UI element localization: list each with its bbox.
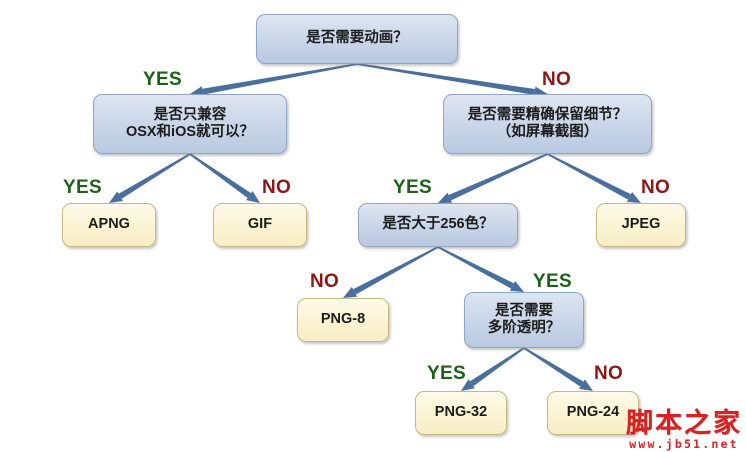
arrow-q-detail-to-r-jpeg xyxy=(547,153,641,203)
node-r-gif[interactable]: GIF xyxy=(213,203,307,247)
arrow-q-osx-ios-to-r-apng xyxy=(109,153,190,203)
edge-label-q-256-yes: YES xyxy=(533,272,572,291)
arrow-q-animation-to-q-osx-ios xyxy=(190,63,357,97)
edge-label-q-osx-ios-yes: YES xyxy=(63,178,102,197)
watermark-url: www.jb51.net xyxy=(626,439,742,451)
edge-label-q-osx-ios-no: NO xyxy=(262,178,291,197)
node-r-png32[interactable]: PNG-32 xyxy=(415,391,507,435)
edge-label-q-alpha-yes: YES xyxy=(427,364,466,383)
node-q-osx-ios[interactable]: 是否只兼容 OSX和iOS就可以？ xyxy=(93,94,287,154)
node-r-png8[interactable]: PNG-8 xyxy=(297,298,389,342)
edge-label-q-detail-no: NO xyxy=(641,178,670,197)
edge-label-q-animation-yes: YES xyxy=(143,70,182,89)
watermark-brand: 脚本之家 xyxy=(626,410,742,437)
arrow-q-detail-to-q-256 xyxy=(438,153,548,203)
node-q-alpha[interactable]: 是否需要 多阶透明？ xyxy=(464,292,584,348)
arrow-q-256-to-r-png8 xyxy=(343,246,438,298)
watermark: 脚本之家 www.jb51.net xyxy=(626,410,742,451)
node-q-detail[interactable]: 是否需要精确保留细节？ （如屏幕截图） xyxy=(443,94,652,154)
node-r-jpeg[interactable]: JPEG xyxy=(596,203,686,247)
edge-label-q-animation-no: NO xyxy=(542,70,571,89)
arrow-q-osx-ios-to-r-gif xyxy=(189,153,260,203)
node-q-animation[interactable]: 是否需要动画？ xyxy=(256,14,458,64)
flowchart-canvas: 是否需要动画？是否只兼容 OSX和iOS就可以？是否需要精确保留细节？ （如屏幕… xyxy=(0,0,746,452)
arrow-q-alpha-to-r-png24 xyxy=(524,347,593,391)
node-r-apng[interactable]: APNG xyxy=(62,203,156,247)
arrow-q-alpha-to-r-png32 xyxy=(461,347,525,391)
edge-label-q-alpha-no: NO xyxy=(594,364,623,383)
node-q-256[interactable]: 是否大于256色？ xyxy=(358,203,518,247)
edge-label-q-256-no: NO xyxy=(310,272,339,291)
arrow-q-256-to-q-alpha xyxy=(438,246,524,292)
edge-label-q-detail-yes: YES xyxy=(393,178,432,197)
arrow-q-animation-to-q-detail xyxy=(357,63,548,97)
